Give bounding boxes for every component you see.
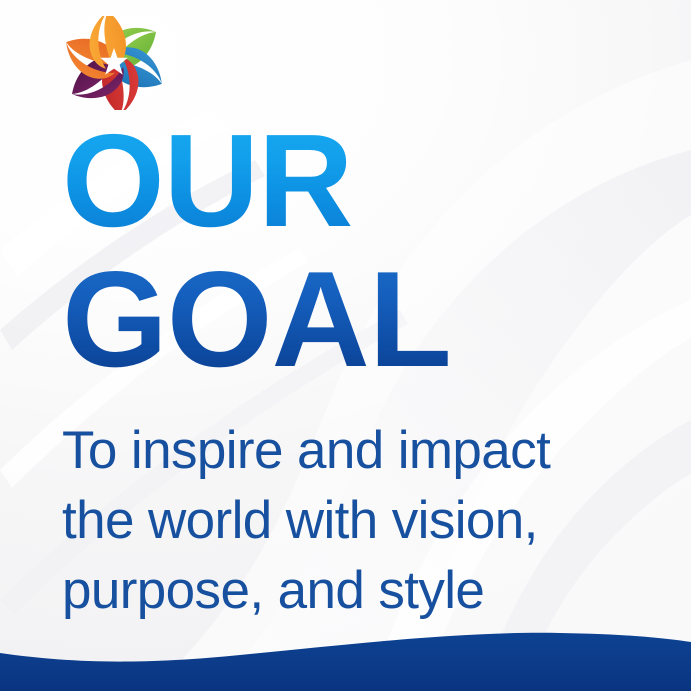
headline-line-goal: GOAL [62,253,662,386]
subtitle-line-2: the world with vision, [62,486,667,556]
headline-line-our: OUR [62,116,662,245]
poster-canvas: OUR GOAL To inspire and impact the world… [0,0,691,691]
bottom-wave [0,611,691,691]
pinwheel-spiral-logo [62,16,166,110]
page-title: OUR GOAL [62,116,662,387]
subtitle-block: To inspire and impact the world with vis… [62,416,667,626]
subtitle-line-1: To inspire and impact [62,416,667,486]
